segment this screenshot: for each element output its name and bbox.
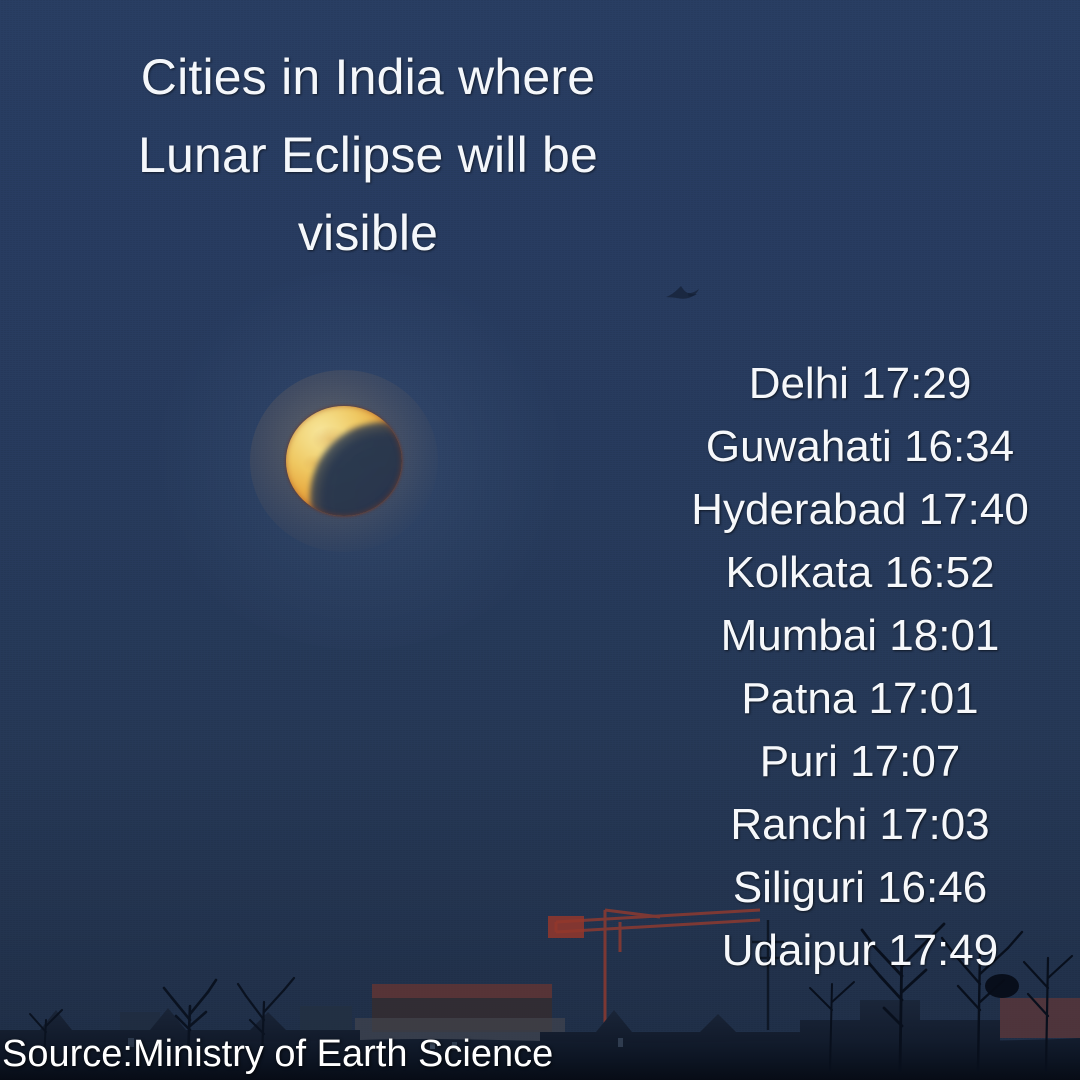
eclipsed-moon — [286, 406, 402, 516]
lunar-eclipse-infographic: Cities in India where Lunar Eclipse will… — [0, 0, 1080, 1080]
page-title: Cities in India where Lunar Eclipse will… — [88, 38, 648, 272]
flying-bird-silhouette — [664, 280, 706, 306]
list-item: Kolkata 16:52 — [660, 541, 1060, 604]
moon-disc — [286, 406, 402, 516]
umbral-shadow — [310, 422, 402, 516]
list-item: Guwahati 16:34 — [660, 415, 1060, 478]
source-attribution: Source:Ministry of Earth Science — [2, 1031, 553, 1077]
list-item: Mumbai 18:01 — [660, 604, 1060, 667]
list-item: Hyderabad 17:40 — [660, 478, 1060, 541]
list-item: Puri 17:07 — [660, 730, 1060, 793]
list-item: Patna 17:01 — [660, 667, 1060, 730]
list-item: Udaipur 17:49 — [660, 919, 1060, 982]
list-item: Delhi 17:29 — [660, 352, 1060, 415]
city-time-list: Delhi 17:29 Guwahati 16:34 Hyderabad 17:… — [660, 352, 1060, 982]
list-item: Ranchi 17:03 — [660, 793, 1060, 856]
list-item: Siliguri 16:46 — [660, 856, 1060, 919]
